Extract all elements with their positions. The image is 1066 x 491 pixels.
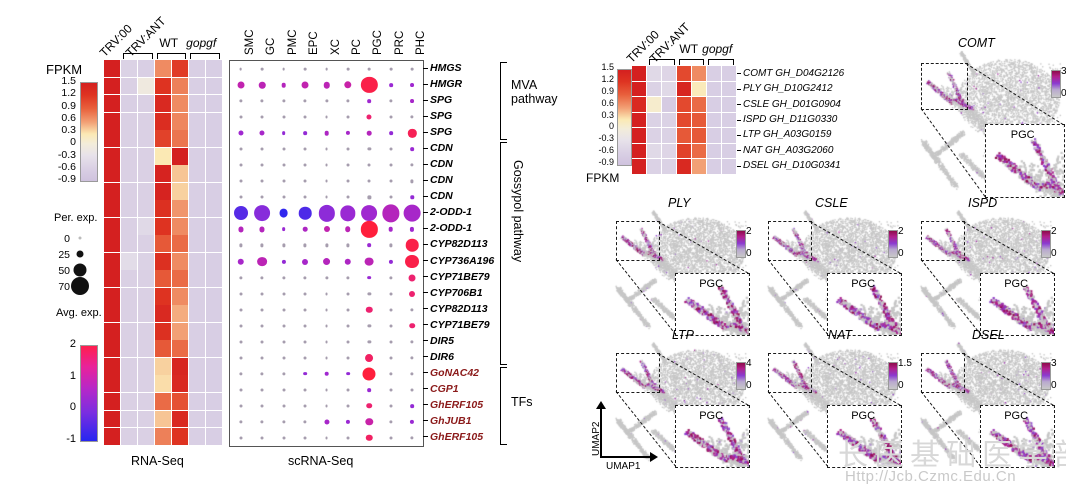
heatmap-cell [662,97,676,112]
heatmap-cell [155,95,171,112]
dotplot-dot [389,99,392,102]
rnaseq-label: RNA-Seq [131,455,184,468]
heatmap-cell [121,375,137,392]
dotplot-dot [239,180,242,183]
dotplot-dot [411,116,414,119]
dotplot-dot [239,404,242,407]
heatmap-cell [155,393,171,410]
umap-inset-label: PGC [851,278,875,290]
dotplot-dot [304,196,307,199]
gene-tick [423,372,428,373]
umap-source-box [616,353,660,393]
column-group-bracket [649,59,675,65]
dotplot-dot [282,372,285,375]
heatmap-cell [138,253,154,270]
scrnaseq-label: scRNA-Seq [288,455,353,468]
dotplot-dot [303,244,306,247]
dotplot-dot [324,372,329,377]
dotplot-dot [346,148,349,151]
heatmap-cell [104,95,120,112]
dotplot-dot [409,323,415,329]
dotplot-dot [304,436,307,439]
heatmap-cell [104,183,120,200]
dotplot-dot [368,68,371,71]
rnaseq-heatmap[interactable] [104,60,222,445]
heatmap-cell [104,78,120,95]
heatmap-cell [104,130,120,147]
heatmap-cell [138,393,154,410]
gene-label: HMGS [430,63,462,74]
heatmap-cell [189,340,205,357]
dotplot-dot [346,99,349,102]
tick-label: 0 [609,122,614,131]
heatmap-cell [172,411,188,428]
umap-scale-min: 0 [1051,381,1057,391]
dotplot-dot [282,99,285,102]
dotplot-dot [361,77,377,93]
dotplot-dot [282,388,285,391]
heatmap-cell [647,144,661,159]
heatmap-cell [632,97,646,112]
heatmap-cell [121,148,137,165]
dotplot-dot [239,148,242,151]
umap-colorbar-ply [736,230,746,258]
dotplot-dot [261,292,264,295]
dotplot-dot [239,340,242,343]
gene-label: 2-ODD-1 [430,207,472,218]
dotplot-dot [239,196,242,199]
heatmap-cell [104,375,120,392]
heatmap-cell [138,165,154,182]
heatmap-cell [189,183,205,200]
umap-source-box [921,221,965,261]
gene-tick [423,260,428,261]
umap-inset-label: PGC [1011,129,1035,141]
right-gene-tick [737,89,741,90]
dotplot-dot [411,388,414,391]
dotplot-dot [282,420,285,423]
tick-label: -0.3 [598,134,614,143]
avg-exp-ticks: 210-1 [56,343,76,438]
dotplot-dot [282,356,285,359]
dotplot-dot [325,388,328,391]
umap-scale-min: 0 [746,249,752,259]
dotplot-dot [405,255,419,269]
heatmap-cell [138,340,154,357]
umap-title-csle: CSLE [815,196,848,210]
dotplot-dot [260,131,265,136]
dotplot-dot [325,308,328,311]
heatmap-cell [189,411,205,428]
dotplot-dot [325,276,328,279]
pathway-bracket-label: MVA pathway [511,78,571,107]
dotplot-dot [325,148,328,151]
pct-exp-legend: 0255070 [40,238,96,302]
heatmap-cell [104,288,120,305]
umap-colorbar-csle [888,230,898,258]
dotplot-dot [282,340,285,343]
dotplot-dot [346,388,349,391]
dotplot-dot [325,116,328,119]
heatmap-cell [138,78,154,95]
column-group-label: WT [159,37,178,49]
dotplot-dot [261,164,264,167]
dotplot-dot [282,276,285,279]
heatmap-cell [121,60,137,77]
heatmap-cell [677,113,691,128]
pct-legend-value: 50 [58,266,70,277]
heatmap-cell [172,393,188,410]
heatmap-cell [172,95,188,112]
heatmap-cell [677,97,691,112]
dotplot-column-xc: XC [331,39,343,55]
umap-scale-max: 3 [1061,67,1066,77]
heatmap-cell [189,428,205,445]
heatmap-cell [189,288,205,305]
heatmap-cell [155,288,171,305]
heatmap-cell [206,113,222,130]
heatmap-cell [692,82,706,97]
heatmap-cell [121,218,137,235]
heatmap-cell [172,78,188,95]
umap-scale-min: 0 [1051,249,1057,259]
dotplot-dot [346,131,350,135]
heatmap-cell [121,165,137,182]
dotplot-dot [368,180,371,183]
heatmap-cell [104,200,120,217]
dotplot-dot [345,227,351,233]
tick-label: -0.9 [598,158,614,167]
heatmap-cell [632,66,646,81]
umap-colorbar-comt [1051,70,1061,98]
heatmap-cell [138,411,154,428]
right-fpkm-colorbar [617,69,632,166]
heatmap-cell [104,393,120,410]
dotplot-dot [259,82,265,88]
dotplot-dot [410,420,414,424]
column-group-bracket [157,53,187,59]
heatmap-cell [692,159,706,174]
tick-label: -1 [66,434,76,445]
dotplot-dot [346,420,350,424]
dotplot-dot [239,99,242,102]
heatmap-cell [206,411,222,428]
umap-y-arrow [596,401,606,409]
dotplot-column-gc: GC [266,38,278,55]
heatmap-cell [104,113,120,130]
dotplot-dot [239,244,242,247]
heatmap-cell [707,159,721,174]
dotplot-dot [325,244,328,247]
heatmap-cell [206,340,222,357]
dotplot-dot [389,68,392,71]
column-group-label: WT [679,43,698,55]
heatmap-cell [206,428,222,445]
right-gene-tick [737,150,741,151]
right-gene-label: NAT GH_A03G2060 [743,146,833,156]
dotplot-dot [346,372,350,376]
dotplot-dot [346,404,349,407]
column-group-bracket [190,53,220,59]
heatmap-cell [722,128,736,143]
scrnaseq-dotplot[interactable] [229,60,424,447]
dotplot-dot [239,68,242,71]
dotplot-dot [389,404,392,407]
heatmap-cell [189,393,205,410]
dotplot-dot [411,340,414,343]
gene-label: CDN [430,191,453,202]
heatmap-cell [632,82,646,97]
dotplot-dot [404,205,421,222]
heatmap-cell [155,218,171,235]
gene-tick [423,388,428,389]
heatmap-cell [138,130,154,147]
dotplot-dot [257,257,267,267]
right-rnaseq-heatmap[interactable] [632,66,736,174]
heatmap-cell [632,159,646,174]
heatmap-cell [172,323,188,340]
dotplot-dot [304,340,307,343]
heatmap-cell [172,60,188,77]
heatmap-cell [722,113,736,128]
dotplot-dot [303,131,307,135]
dotplot-dot [261,180,264,183]
dotplot-dot [389,388,392,391]
dotplot-dot [368,292,371,295]
gene-label: GhERF105 [430,400,483,411]
gene-tick [423,308,428,309]
dotplot-dot [303,420,306,423]
dotplot-dot [389,420,392,423]
dotplot-dot [282,228,286,232]
dotplot-dot [366,306,372,312]
heatmap-cell [172,235,188,252]
dotplot-dot [302,259,308,265]
umap-scale-min: 0 [746,381,752,391]
heatmap-cell [662,82,676,97]
heatmap-cell [189,270,205,287]
dotplot-dot [299,207,312,220]
heatmap-cell [172,428,188,445]
dotplot-dot [389,83,393,87]
dotplot-dot [367,131,372,136]
dotplot-dot [325,68,328,71]
heatmap-cell [104,235,120,252]
heatmap-cell [692,66,706,81]
heatmap-cell [121,428,137,445]
dotplot-dot [303,372,307,376]
dotplot-dot [411,356,414,359]
heatmap-cell [677,66,691,81]
dotplot-dot [411,372,414,375]
dotplot-dot [237,82,244,89]
pathway-bracket [500,367,507,445]
heatmap-cell [692,113,706,128]
dotplot-dot [304,116,307,119]
dotplot-dot [282,131,286,135]
heatmap-cell [172,183,188,200]
tick-label: 0.6 [601,99,614,108]
heatmap-cell [104,218,120,235]
umap-colorbar-ispd [1041,230,1051,258]
tick-label: 0.3 [601,111,614,120]
dotplot-dot [389,164,392,167]
umap-scale-max: 2 [1051,227,1057,237]
heatmap-cell [206,323,222,340]
heatmap-cell [189,253,205,270]
gene-label: SPG [430,127,452,138]
heatmap-cell [632,144,646,159]
dotplot-dot [325,340,328,343]
gene-tick [423,292,428,293]
tick-label: 0.9 [61,101,76,112]
dotplot-dot [239,308,242,311]
dotplot-dot [260,227,265,232]
heatmap-cell [707,113,721,128]
dotplot-dot [239,116,242,119]
heatmap-cell [121,78,137,95]
heatmap-cell [155,428,171,445]
dotplot-column-epc: EPC [309,31,321,55]
dotplot-dot [411,164,414,167]
dotplot-dot [410,227,414,231]
heatmap-cell [707,144,721,159]
dotplot-dot [261,196,264,199]
heatmap-cell [138,200,154,217]
heatmap-cell [121,200,137,217]
heatmap-cell [707,82,721,97]
gene-tick [423,340,428,341]
dotplot-dot [282,196,285,199]
dotplot-dot [411,308,414,311]
heatmap-cell [138,235,154,252]
dotplot-dot [368,164,371,167]
heatmap-cell [138,305,154,322]
dotplot-dot [261,436,264,439]
gene-label: 2-ODD-1 [430,223,472,234]
heatmap-cell [121,253,137,270]
pathway-bracket-label: TFs [511,395,571,409]
umap-source-box [768,221,812,261]
heatmap-cell [104,305,120,322]
tick-label: 0.3 [61,125,76,136]
heatmap-cell [189,375,205,392]
dotplot-dot [346,276,349,279]
heatmap-cell [189,358,205,375]
dotplot-dot [366,435,372,441]
umap-source-box [921,63,968,110]
heatmap-cell [677,82,691,97]
dotplot-column-pgc: PGC [373,30,385,55]
dotplot-dot [261,99,264,102]
pathway-bracket [500,62,507,140]
umap-source-box [921,353,965,393]
heatmap-cell [647,128,661,143]
dotplot-dot [238,227,243,232]
heatmap-cell [155,113,171,130]
umap-scale-max: 2 [746,227,752,237]
dotplot-dot [346,308,349,311]
heatmap-cell [104,358,120,375]
dotplot-dot [282,324,285,327]
heatmap-cell [104,148,120,165]
dotplot-dot [389,196,392,199]
heatmap-cell [121,358,137,375]
dotplot-dot [346,340,349,343]
tick-label: -0.9 [58,174,76,185]
heatmap-cell [206,200,222,217]
pct-legend-value: 70 [58,282,70,293]
dotplot-dot [282,164,285,167]
heatmap-cell [677,159,691,174]
heatmap-cell [722,159,736,174]
heatmap-cell [206,183,222,200]
dotplot-dot [346,292,349,295]
dotplot-dot [389,276,392,279]
heatmap-cell [172,200,188,217]
dotplot-dot [302,82,309,89]
umap-title-ispd: ISPD [968,196,997,210]
dotplot-dot [389,148,392,151]
dotplot-dot [282,68,285,71]
heatmap-cell [172,270,188,287]
heatmap-cell [104,270,120,287]
tick-label: 1.5 [61,76,76,87]
heatmap-cell [707,66,721,81]
tick-label: -0.3 [58,150,76,161]
pct-legend-dot [74,264,87,277]
heatmap-cell [189,165,205,182]
pct-legend-title-1: Per. exp. [54,213,97,224]
dotplot-dot [239,292,242,295]
right-gene-tick [737,135,741,136]
dotplot-dot [368,388,372,392]
heatmap-cell [206,130,222,147]
umap-x-arrow [650,452,658,462]
heatmap-cell [172,113,188,130]
watermark-url: Http://Jcb.Czmc.Edu.Cn [845,468,1016,485]
gene-label: CGP1 [430,384,459,395]
umap-inset-label: PGC [1004,278,1028,290]
dotplot-dot [282,259,286,263]
heatmap-cell [121,411,137,428]
dotplot-dot [325,404,328,407]
tick-label: 1.2 [601,75,614,84]
dotplot-dot [261,68,264,71]
dotplot-dot [237,258,243,264]
heatmap-cell [677,128,691,143]
heatmap-cell [172,340,188,357]
umap-scale-min: 0 [1061,89,1066,99]
dotplot-dot [323,226,329,232]
heatmap-cell [121,270,137,287]
heatmap-cell [206,148,222,165]
heatmap-cell [155,183,171,200]
dotplot-dot [368,196,371,199]
dotplot-dot [368,148,371,151]
heatmap-cell [647,113,661,128]
heatmap-cell [172,288,188,305]
dotplot-dot [318,205,334,221]
column-group-bracket [679,59,705,65]
dotplot-dot [361,205,377,221]
heatmap-cell [189,113,205,130]
dotplot-dot [323,82,329,88]
dotplot-dot [239,276,242,279]
dotplot-dot [261,340,264,343]
heatmap-cell [707,128,721,143]
heatmap-cell [138,95,154,112]
